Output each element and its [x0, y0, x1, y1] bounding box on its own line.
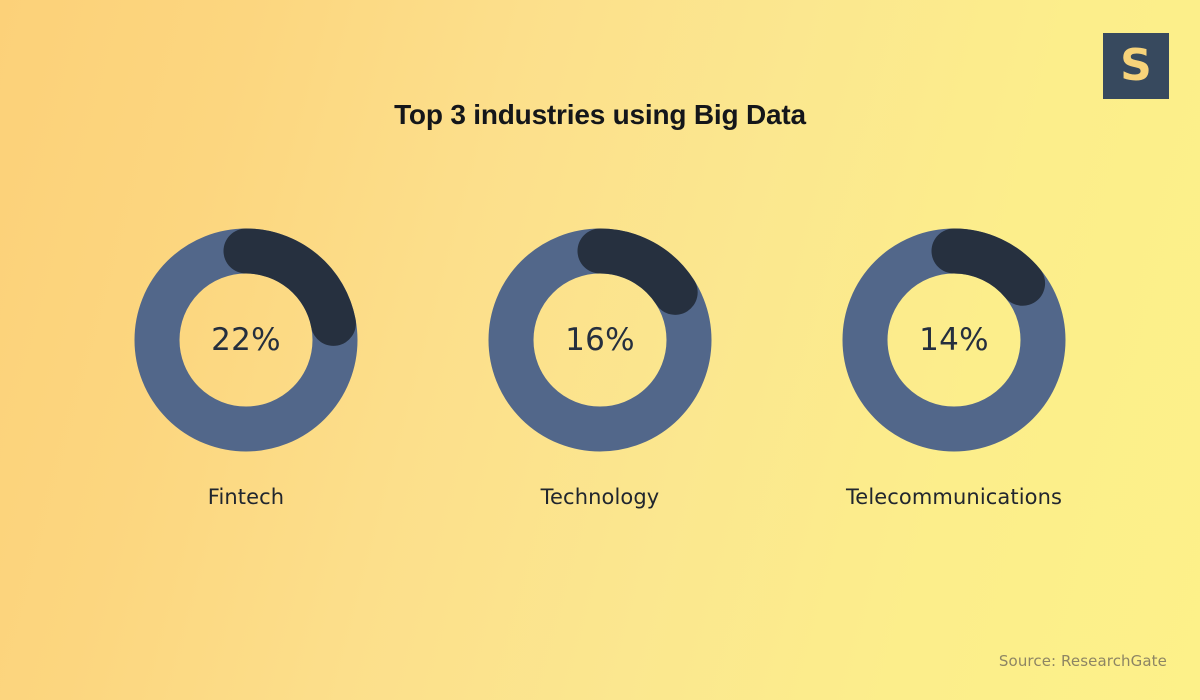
- donut-value-label-1: 16%: [488, 228, 712, 452]
- donut-graphic: 16%: [488, 228, 712, 452]
- donut-chart-fintech: 22% Fintech: [69, 228, 423, 509]
- donut-value-label-2: 14%: [842, 228, 1066, 452]
- donut-graphic: 22%: [134, 228, 358, 452]
- brand-logo: S: [1103, 33, 1169, 99]
- donut-value-label-0: 22%: [134, 228, 358, 452]
- source-attribution: Source: ResearchGate: [999, 652, 1167, 670]
- donut-category-label-2: Telecommunications: [846, 485, 1062, 509]
- donut-chart-technology: 16% Technology: [423, 228, 777, 509]
- donut-graphic: 14%: [842, 228, 1066, 452]
- donut-chart-row: 22% Fintech 16% Technology 14% Telecommu…: [0, 228, 1200, 509]
- statista-s-logo-icon: S: [1120, 44, 1152, 88]
- page-title: Top 3 industries using Big Data: [0, 99, 1200, 131]
- donut-chart-telecommunications: 14% Telecommunications: [777, 228, 1131, 509]
- donut-category-label-0: Fintech: [208, 485, 284, 509]
- donut-category-label-1: Technology: [541, 485, 660, 509]
